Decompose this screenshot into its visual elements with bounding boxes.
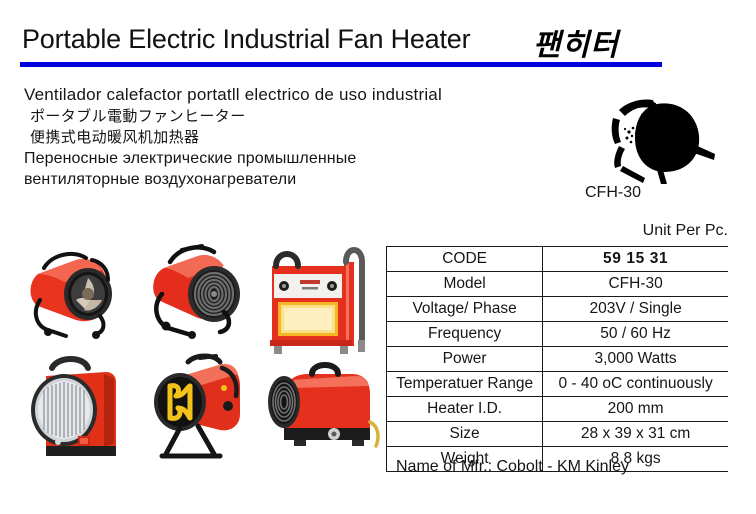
unit-per-piece-note: Unit Per Pc.	[560, 222, 728, 240]
table-row: Model CFH-30	[387, 272, 729, 297]
subtitle-japanese: ポータブル電動ファンヒーター	[24, 106, 554, 127]
heater-photo-drum-orange-front	[14, 240, 134, 348]
spec-key: Power	[387, 347, 543, 372]
table-row: Heater I.D. 200 mm	[387, 397, 729, 422]
spec-value: 200 mm	[543, 397, 728, 422]
heater-photo-drum-spiral-grille	[140, 238, 258, 350]
spec-key: Size	[387, 422, 543, 447]
table-row: Size 28 x 39 x 31 cm	[387, 422, 729, 447]
table-row: Power 3,000 Watts	[387, 347, 729, 372]
product-thumbnail-block: CFH-30	[575, 92, 735, 207]
page-header: Portable Electric Industrial Fan Heater …	[0, 0, 756, 78]
spec-value: 28 x 39 x 31 cm	[543, 422, 728, 447]
table-row: Frequency 50 / 60 Hz	[387, 322, 729, 347]
subtitle-spanish: Ventilador calefactor portatll electrico…	[24, 84, 554, 106]
spec-key: Frequency	[387, 322, 543, 347]
spec-value: 3,000 Watts	[543, 347, 728, 372]
thumbnail-caption: CFH-30	[585, 184, 641, 202]
product-photo-grid	[8, 236, 380, 466]
spec-key: Voltage/ Phase	[387, 297, 543, 322]
page-title-korean: 팬히터	[533, 20, 619, 64]
table-row: Voltage/ Phase 203V / Single	[387, 297, 729, 322]
heater-photo-round-yellow-element	[136, 352, 260, 466]
heater-photo-gas-forced-air	[260, 354, 380, 462]
heater-photo-box-ptc-element	[18, 354, 136, 464]
header-divider-rule	[20, 62, 662, 67]
spec-value: 0 - 40 oC continuously	[543, 372, 728, 397]
subtitle-russian-line-1: Переносные электрические промышленные	[24, 148, 554, 169]
spec-key: Heater I.D.	[387, 397, 543, 422]
manufacturer-line: Name of Mfr.: Cobolt - KM Kinley	[396, 458, 629, 476]
subtitle-russian-line-2: вентиляторные воздухонагреватели	[24, 169, 554, 190]
heater-photo-cabinet-glow-panel	[258, 236, 374, 354]
table-row: Temperatuer Range 0 - 40 oC continuously	[387, 372, 729, 397]
spec-value: CFH-30	[543, 272, 728, 297]
specification-table: CODE 59 15 31 Model CFH-30 Voltage/ Phas…	[386, 246, 728, 472]
spec-key: CODE	[387, 247, 543, 272]
fan-heater-silhouette-icon	[575, 92, 725, 184]
table-row: CODE 59 15 31	[387, 247, 729, 272]
multilingual-subtitles: Ventilador calefactor portatll electrico…	[24, 84, 554, 190]
spec-key: Temperatuer Range	[387, 372, 543, 397]
spec-value: 50 / 60 Hz	[543, 322, 728, 347]
spec-key: Model	[387, 272, 543, 297]
subtitle-chinese: 便携式电动暖风机加热器	[24, 127, 554, 148]
spec-value: 203V / Single	[543, 297, 728, 322]
spec-value: 59 15 31	[543, 247, 728, 272]
page-title-english: Portable Electric Industrial Fan Heater	[22, 24, 470, 55]
catalog-page: Portable Electric Industrial Fan Heater …	[0, 0, 756, 514]
